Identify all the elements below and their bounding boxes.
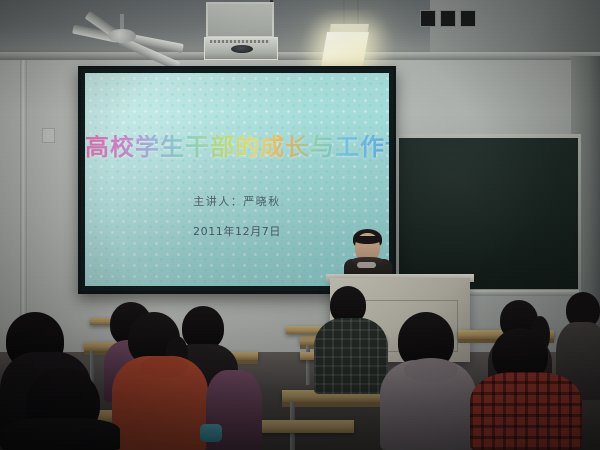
wall-plate [42,128,55,143]
projector-grille [210,40,270,43]
slide-speaker-line: 主讲人：严晓秋 [85,193,389,209]
presenter-collar [357,262,376,268]
projector-lens-icon [231,45,253,53]
ceiling-fan-hub [108,29,136,43]
presenter-bangs [354,236,381,244]
projector-vent-slot [460,10,476,27]
screen-sheen [85,73,252,286]
slide-title: 高校学生干部的成长与工作认识 [85,135,389,159]
desk [258,420,354,433]
projector-cage [206,2,274,38]
projection-screen: 高校学生干部的成长与工作认识 主讲人：严晓秋 2011年12月7日 [85,73,389,286]
student-body [4,418,120,450]
lamp-wire [343,0,345,26]
slide-date-line: 2011年12月7日 [85,223,389,239]
student-hood [140,356,188,378]
chalkboard-frame [396,134,581,296]
student-hood [404,358,458,382]
projector-vent-slot [440,10,456,27]
fluorescent-lamp [321,32,369,66]
classroom-photo: 高校学生干部的成长与工作认识 主讲人：严晓秋 2011年12月7日 [0,0,600,450]
student-body [470,372,582,450]
projector-vent-slot [420,10,436,27]
desk-leg [306,345,310,385]
chalkboard [399,138,578,289]
lamp-wire [357,0,359,24]
teal-cup [200,424,222,442]
student-body [314,318,388,394]
